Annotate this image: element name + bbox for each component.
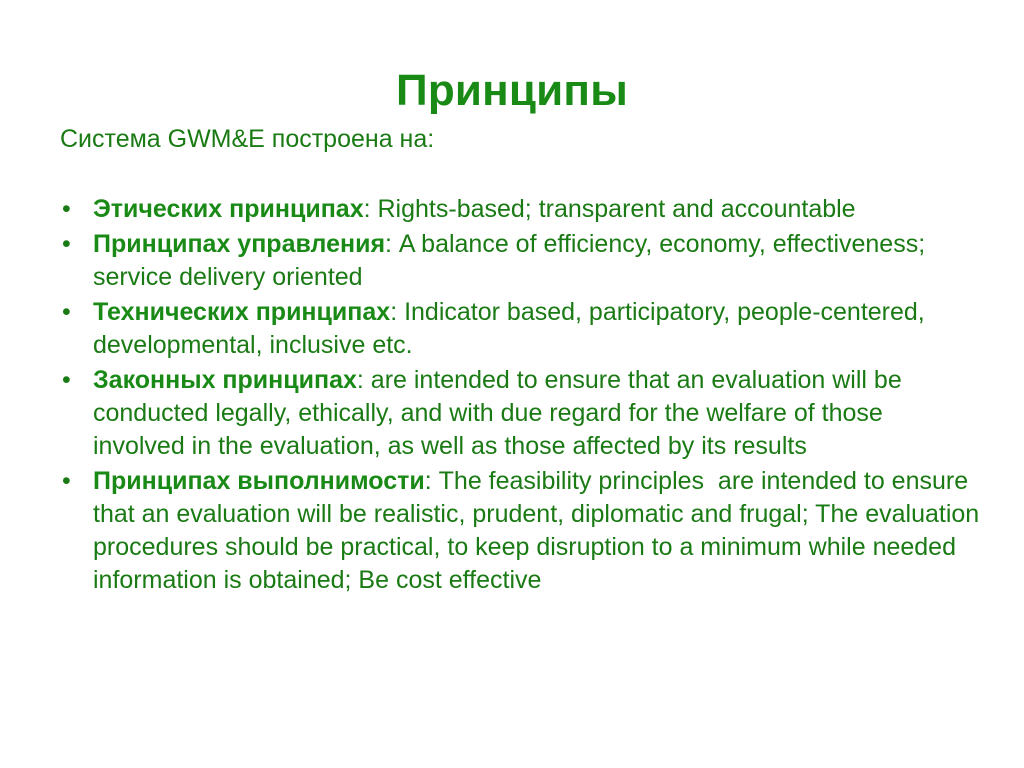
slide-body: Система GWM&E построена на: •Этических п…: [60, 124, 980, 599]
list-item-term: Этических принципах: [93, 195, 364, 223]
list-item: •Этических принципах: Rights-based; tran…: [60, 193, 980, 226]
bullet-icon: •: [62, 228, 82, 261]
list-item-description: : Rights-based; transparent and accounta…: [364, 195, 856, 223]
list-item: •Принципах управления: A balance of effi…: [60, 228, 980, 294]
slide-canvas: Принципы Система GWM&E построена на: •Эт…: [0, 0, 1024, 768]
list-item-term: Законных принципах: [93, 366, 357, 394]
bullet-icon: •: [62, 193, 82, 226]
bullet-icon: •: [62, 296, 82, 329]
list-item: •Технических принципах: Indicator based,…: [60, 296, 980, 362]
page-title: Принципы: [0, 67, 1024, 115]
list-item-term: Принципах выполнимости: [93, 467, 425, 495]
principles-list: •Этических принципах: Rights-based; tran…: [60, 193, 980, 597]
list-item: •Законных принципах: are intended to ens…: [60, 364, 980, 463]
bullet-icon: •: [62, 465, 82, 498]
list-item-term: Технических принципах: [93, 298, 390, 326]
list-item-term: Принципах управления: [93, 230, 385, 258]
lead-paragraph: Система GWM&E построена на:: [60, 124, 980, 155]
list-item: •Принципах выполнимости: The feasibility…: [60, 465, 980, 597]
bullet-icon: •: [62, 364, 82, 397]
